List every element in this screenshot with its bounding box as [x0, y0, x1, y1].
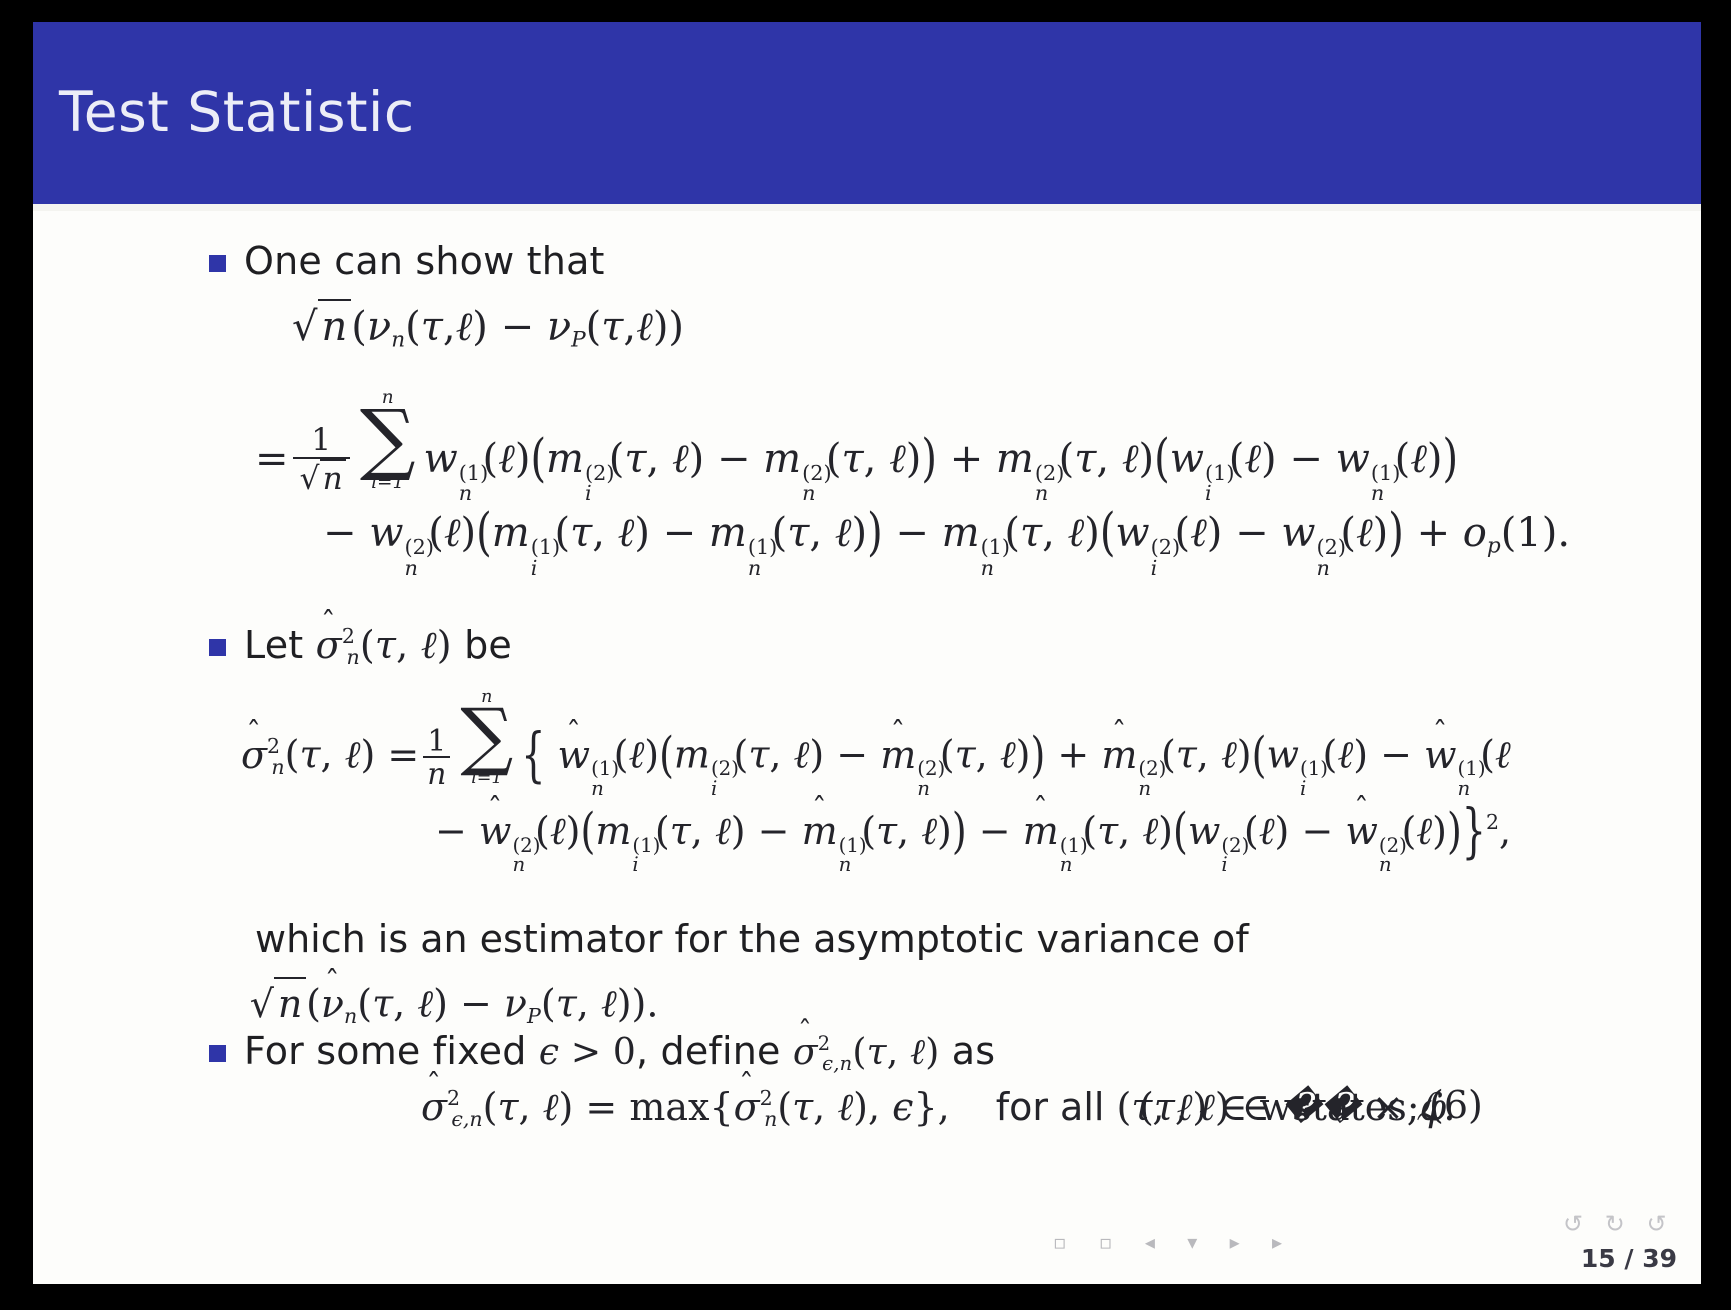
bullet-square-icon	[209, 1045, 226, 1062]
bullet-square-icon	[209, 255, 226, 272]
for-some-fixed-word: For some fixed	[244, 1029, 527, 1073]
equation-line-1: √n(νn(τ,ℓ) − νP(τ,ℓ))	[288, 299, 684, 352]
variance-equation-line-1: ˆσ2n(τ, ℓ) =1nn∑i=1{ ˆw(1)n(ℓ)(m(2)i(τ, …	[241, 689, 1511, 789]
variance-equation-line-2: − ˆw(2)n(ℓ)(m(1)i(τ, ℓ) − ˆm(1)n(τ, ℓ)) …	[435, 809, 1511, 854]
for-all-text: for all	[996, 1085, 1105, 1129]
page-title: Test Statistic	[59, 80, 415, 144]
bullet-one-can-show: One can show that	[209, 239, 605, 283]
bullet-label: One can show that	[244, 239, 605, 283]
slide-body: One can show that √n(νn(τ,ℓ) − νP(τ,ℓ)) …	[33, 211, 1701, 1284]
slide-title-bar: Test Statistic	[33, 22, 1701, 204]
sigma-hat-eps-symbol: ˆσ2ϵ,n(τ, ℓ)	[793, 1032, 940, 1073]
page-number-indicator: 15 / 39	[1581, 1244, 1677, 1273]
beamer-nav-arrow-icons[interactable]: ↺ ↻ ↺	[1563, 1210, 1674, 1238]
as-word: as	[952, 1029, 995, 1073]
beamer-nav-buttons[interactable]: ▫ ▫ ◂ ▾ ▸ ▸	[1053, 1230, 1295, 1254]
bullet-square-icon	[209, 639, 226, 656]
equation-6-domain: (τ, ℓ) ∈ �� × ℒ.	[1139, 1085, 1455, 1130]
equation-sqrt-nu-hat: √n(ˆνn(τ, ℓ) − νP(τ, ℓ)).	[246, 977, 658, 1028]
be-word: be	[464, 623, 512, 667]
bullet-let-sigma: Let ˆσ2n(τ, ℓ) be	[209, 623, 512, 669]
let-word: Let	[244, 623, 303, 667]
bullet-label: Let ˆσ2n(τ, ℓ) be	[244, 623, 512, 669]
equation-line-2: =1√nn∑i=1w(1)n(ℓ)(m(2)i(τ, ℓ) − m(2)n(τ,…	[255, 389, 1458, 496]
estimator-description-text: which is an estimator for the asymptotic…	[255, 917, 1249, 961]
bullet-label: For some fixed ϵ > 0, define ˆσ2ϵ,n(τ, ℓ…	[244, 1029, 995, 1075]
title-underline-divider	[33, 204, 1701, 211]
bullet-for-some-fixed: For some fixed ϵ > 0, define ˆσ2ϵ,n(τ, ℓ…	[209, 1029, 995, 1075]
slide-letterbox-frame: Test Statistic One can show that √n(νn(τ…	[0, 0, 1731, 1310]
define-word: define	[661, 1029, 781, 1073]
equation-line-3: − w(2)n(ℓ)(m(1)i(τ, ℓ) − m(1)n(τ, ℓ)) − …	[323, 509, 1570, 558]
epsilon-condition: ϵ > 0	[539, 1032, 636, 1073]
presentation-slide: Test Statistic One can show that √n(νn(τ…	[33, 22, 1701, 1284]
equation-6-number: (6)	[1429, 1083, 1483, 1127]
sigma-hat-symbol: ˆσ2n(τ, ℓ)	[316, 623, 452, 667]
